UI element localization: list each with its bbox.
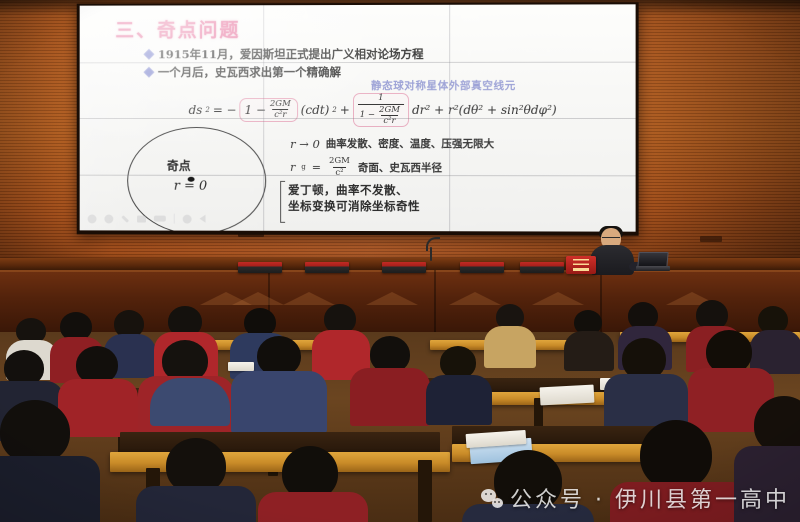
wall-speaker-right	[700, 236, 722, 242]
student-body	[58, 379, 138, 437]
eraser-icon[interactable]	[154, 216, 166, 222]
student-body	[484, 326, 536, 368]
lecturer-nameplate	[566, 256, 596, 274]
stage-chevron-ornament	[283, 292, 335, 305]
equation-term2-fraction: 1 1 − 2GM c²r	[358, 94, 404, 126]
equation-term2-inner-fraction: 2GM c²r	[377, 105, 402, 125]
equation-mid-sup: 2	[332, 106, 336, 114]
screen-surface[interactable]: 三、奇点问题 1915年11月，爱因斯坦正式提出广义相对论场方程 一个月后，史瓦…	[80, 4, 636, 231]
slide-subnote: 静态球对称星体外部真空线元	[371, 78, 516, 93]
circle-icon[interactable]	[104, 214, 113, 223]
singularity-label: 奇点	[167, 157, 191, 174]
nameplate	[238, 262, 282, 273]
student-body	[426, 375, 492, 425]
equation-plus: +	[340, 103, 350, 117]
presentation-slide: 三、奇点问题 1915年11月，爱因斯坦正式提出广义相对论场方程 一个月后，史瓦…	[80, 4, 636, 231]
right-line-2-eq: =	[312, 160, 321, 173]
stage-panel-seam	[434, 270, 436, 332]
gooseneck-mic-icon	[430, 247, 432, 261]
equation-term2-one: 1 −	[360, 111, 375, 120]
circle-icon[interactable]	[88, 214, 97, 223]
toolbar-divider	[174, 214, 175, 224]
student-head	[640, 420, 712, 490]
watermark: 公众号 · 伊川县第一高中	[481, 482, 790, 514]
student-head	[0, 400, 70, 464]
slide-bullet-1-text: 1915年11月，爱因斯坦正式提出广义相对论场方程	[158, 46, 424, 62]
student-body	[350, 368, 430, 426]
slide-right-line-2: r g = 2GM c² 奇面、史瓦西半径	[290, 157, 442, 177]
conclusion-brace	[280, 181, 285, 223]
laptop-keyboard[interactable]	[636, 266, 670, 271]
paper-sheet	[228, 362, 254, 371]
equation-term1-fraction: 2GM c²r	[268, 100, 293, 120]
conclusion-line-2: 坐标变换可消除坐标奇性	[288, 198, 420, 214]
bench-seat-front	[110, 452, 450, 472]
stage-chevron-ornament	[449, 292, 501, 305]
stage-chevron-ornament	[532, 292, 584, 305]
equation-tail: dr² + r²(dθ² + sin²θdφ²)	[412, 103, 557, 117]
slide-conclusion: 爱丁顿，曲率不发散、 坐标变换可消除坐标奇性	[288, 183, 420, 214]
nameplate	[305, 262, 349, 273]
shapes-icon[interactable]	[137, 215, 146, 222]
right-line-2-sub: g	[301, 163, 305, 171]
equation-term2-inner-num: 2GM	[377, 105, 402, 115]
glasses-icon	[602, 237, 620, 241]
equation-mid: (cdt)	[301, 103, 330, 117]
conclusion-line-1: 爱丁顿，曲率不发散、	[288, 183, 420, 199]
nameplate	[460, 262, 504, 273]
wechat-icon	[481, 489, 503, 508]
diamond-bullet-icon	[143, 49, 154, 60]
student-body	[0, 456, 100, 522]
slide-bullet-2: 一个月后，史瓦西求出第一个精确解	[145, 64, 341, 80]
bench-back-front	[120, 432, 440, 454]
equation-term1-denominator: c²r	[272, 109, 288, 119]
pen-icon[interactable]	[121, 215, 129, 223]
equation-term1-one: 1 −	[245, 103, 266, 117]
equation-term1-box: 1 − 2GM c²r	[240, 98, 298, 122]
stage-chevron-ornament	[366, 292, 418, 305]
equation-lhs-sup: 2	[205, 106, 209, 114]
open-notebook	[540, 385, 595, 406]
singularity-value: r = 0	[174, 179, 207, 194]
right-line-2-text: 奇面、史瓦西半径	[358, 160, 442, 175]
student-head	[257, 336, 301, 376]
lecturer-body	[590, 245, 634, 275]
slide-right-line-1: r → 0 曲率发散、密度、温度、压强无限大	[290, 136, 494, 151]
right-line-1-text: 曲率发散、密度、温度、压强无限大	[326, 136, 494, 151]
right-line-1-math: r → 0	[290, 136, 320, 150]
bench-leg	[418, 460, 432, 522]
equation-equals: = −	[213, 103, 237, 117]
equation-term2-box: 1 1 − 2GM c²r	[353, 93, 409, 127]
equation-term1-numerator: 2GM	[268, 100, 293, 109]
stage-chevron-ornament	[232, 292, 284, 305]
equation-term2-numerator: 1	[376, 94, 385, 104]
watermark-text: 公众号 · 伊川县第一高中	[510, 482, 790, 514]
right-line-2-fraction: 2GM c²	[327, 157, 352, 177]
laptop-screen[interactable]	[637, 252, 668, 267]
slide-annotation-toolbar[interactable]	[88, 213, 206, 223]
right-line-2-lhs: r	[290, 160, 295, 173]
slide-title: 三、奇点问题	[115, 15, 240, 42]
nameplate	[382, 262, 426, 273]
nameplate	[520, 262, 564, 273]
student-body	[231, 371, 327, 433]
student-body	[136, 486, 256, 522]
circle-icon[interactable]	[183, 214, 192, 223]
projection-screen[interactable]: 三、奇点问题 1915年11月，爱因斯坦正式提出广义相对论场方程 一个月后，史瓦…	[77, 2, 639, 235]
right-line-2-num: 2GM	[327, 157, 352, 167]
schwarzschild-equation: ds 2 = − 1 − 2GM c²r (cdt) 2 +	[189, 93, 557, 127]
cursor-icon[interactable]	[200, 215, 206, 223]
student-vest	[150, 378, 230, 426]
equation-lhs: ds	[189, 103, 203, 117]
lecture-hall-scene: 三、奇点问题 1915年11月，爱因斯坦正式提出广义相对论场方程 一个月后，史瓦…	[0, 0, 800, 522]
slide-bullet-2-text: 一个月后，史瓦西求出第一个精确解	[158, 64, 341, 80]
equation-term2-denominator: 1 − 2GM c²r	[358, 103, 404, 125]
equation-term2-inner-den: c²r	[381, 115, 397, 126]
right-line-2-den: c²	[333, 166, 345, 177]
slide-bullet-1: 1915年11月，爱因斯坦正式提出广义相对论场方程	[145, 46, 424, 62]
student-body	[258, 492, 368, 522]
student-body	[564, 331, 614, 371]
diamond-bullet-icon	[143, 67, 154, 78]
